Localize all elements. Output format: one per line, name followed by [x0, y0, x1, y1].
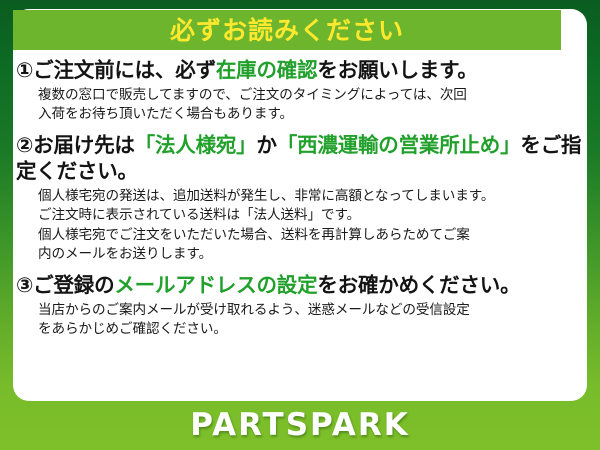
notice-marker: ③ [16, 273, 33, 297]
notice-heading-text: か [256, 133, 276, 157]
notice-heading-highlight: メールアドレスの設定 [114, 273, 317, 297]
notice-body: 複数の窓口で販売してますので、ご注文のタイミングによっては、次回入荷をお待ち頂い… [16, 86, 586, 125]
notice-item: ①ご注文前には、必ず在庫の確認をお願いします。複数の窓口で販売してますので、ご注… [16, 58, 586, 124]
notice-list: ①ご注文前には、必ず在庫の確認をお願いします。複数の窓口で販売してますので、ご注… [0, 58, 600, 349]
notice-item: ③ご登録のメールアドレスの設定をお確かめください。当店からのご案内メールが受け取… [16, 273, 586, 339]
notice-heading: ②お届け先は「法人様宛」か「西濃運輸の営業所止め」をご指定ください。 [16, 133, 586, 185]
notice-marker: ② [16, 133, 33, 157]
notice-marker: ① [16, 58, 33, 82]
notice-heading-highlight: 在庫の確認 [216, 58, 318, 82]
notice-heading: ③ご登録のメールアドレスの設定をお確かめください。 [16, 273, 586, 299]
brand-name: PARTSPARK [190, 410, 410, 441]
banner-title: 必ずお読みください [170, 18, 404, 43]
notice-body-line: ご注文時に表示されている送料は「法人送料」です。 [38, 206, 586, 225]
notice-body-line: 当店からのご案内メールが受け取れるよう、迷惑メールなどの受信設定 [38, 301, 586, 320]
notice-item: ②お届け先は「法人様宛」か「西濃運輸の営業所止め」をご指定ください。個人様宅宛の… [16, 133, 586, 264]
notice-body-line: 複数の窓口で販売してますので、ご注文のタイミングによっては、次回 [38, 86, 586, 105]
notice-heading-text: をお確かめください。 [317, 273, 520, 297]
notice-heading-text: お届け先は [33, 133, 135, 157]
notice-heading-text: ご注文前には、必ず [33, 58, 216, 82]
notice-body-line: をあらかじめご確認ください。 [38, 320, 586, 339]
notice-banner: 必ずお読みください [13, 10, 561, 50]
notice-heading-text: をお願いします。 [317, 58, 477, 82]
notice-body-line: 個人様宅宛の発送は、追加送料が発生し、非常に高額となってしまいます。 [38, 187, 586, 206]
notice-body: 当店からのご案内メールが受け取れるよう、迷惑メールなどの受信設定をあらかじめご確… [16, 301, 586, 340]
notice-heading-highlight: 「法人様宛」 [135, 133, 257, 157]
footer-brand-bar: PARTSPARK [0, 401, 600, 450]
notice-heading-highlight: 「西濃運輸の営業所止め」 [277, 133, 521, 157]
notice-body: 個人様宅宛の発送は、追加送料が発生し、非常に高額となってしまいます。ご注文時に表… [16, 187, 586, 264]
notice-body-line: 入荷をお待ち頂いただく場合もあります。 [38, 105, 586, 124]
notice-heading: ①ご注文前には、必ず在庫の確認をお願いします。 [16, 58, 586, 84]
notice-body-line: 個人様宅宛でご注文をいただいた場合、送料を再計算しあらためてご案 [38, 226, 586, 245]
notice-body-line: 内のメールをお送りします。 [38, 245, 586, 264]
notice-heading-text: ご登録の [33, 273, 114, 297]
